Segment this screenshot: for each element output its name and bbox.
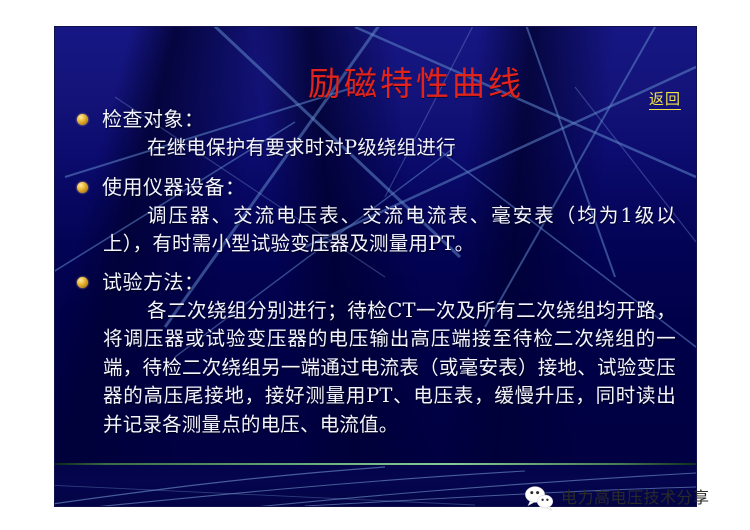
paragraph-2-1: 调压器、交流电压表、交流电流表、毫安表（均为1级以上），有时需小型试验变压器及测… — [69, 202, 686, 259]
slide-canvas: 励磁特性曲线 返回 检查对象： 在继电保护有要求时对P级绕组进行 使用仪器设备：… — [55, 27, 696, 506]
slide-body: 检查对象： 在继电保护有要求时对P级绕组进行 使用仪器设备： 调压器、交流电压表… — [69, 105, 686, 439]
screenshot-root: 励磁特性曲线 返回 检查对象： 在继电保护有要求时对P级绕组进行 使用仪器设备：… — [0, 0, 750, 530]
content-block-2: 使用仪器设备： 调压器、交流电压表、交流电流表、毫安表（均为1级以上），有时需小… — [69, 173, 686, 259]
bullet-label-1: 检查对象： — [102, 105, 205, 133]
bullet-heading-3: 试验方法： — [69, 268, 686, 296]
watermark: 电力高电压技术分享 — [524, 485, 710, 511]
watermark-text: 电力高电压技术分享 — [561, 488, 710, 508]
bullet-sphere-icon — [77, 277, 88, 288]
bullet-sphere-icon — [77, 114, 88, 125]
content-block-1: 检查对象： 在继电保护有要求时对P级绕组进行 — [69, 105, 686, 163]
block-spacer-1 — [69, 163, 686, 173]
bullet-label-3: 试验方法： — [102, 268, 205, 296]
paragraph-3-1: 各二次绕组分别进行；待检CT一次及所有二次绕组均开路，将调压器或试验变压器的电压… — [69, 297, 686, 440]
bullet-label-2: 使用仪器设备： — [102, 173, 246, 201]
wechat-icon — [524, 485, 554, 511]
paragraph-1-1: 在继电保护有要求时对P级绕组进行 — [69, 134, 686, 163]
bullet-sphere-icon — [77, 182, 88, 193]
bullet-heading-2: 使用仪器设备： — [69, 173, 686, 201]
block-spacer-2 — [69, 259, 686, 268]
content-block-3: 试验方法： 各二次绕组分别进行；待检CT一次及所有二次绕组均开路，将调压器或试验… — [69, 268, 686, 440]
page-title: 励磁特性曲线 — [251, 62, 581, 106]
bullet-heading-1: 检查对象： — [69, 105, 686, 133]
